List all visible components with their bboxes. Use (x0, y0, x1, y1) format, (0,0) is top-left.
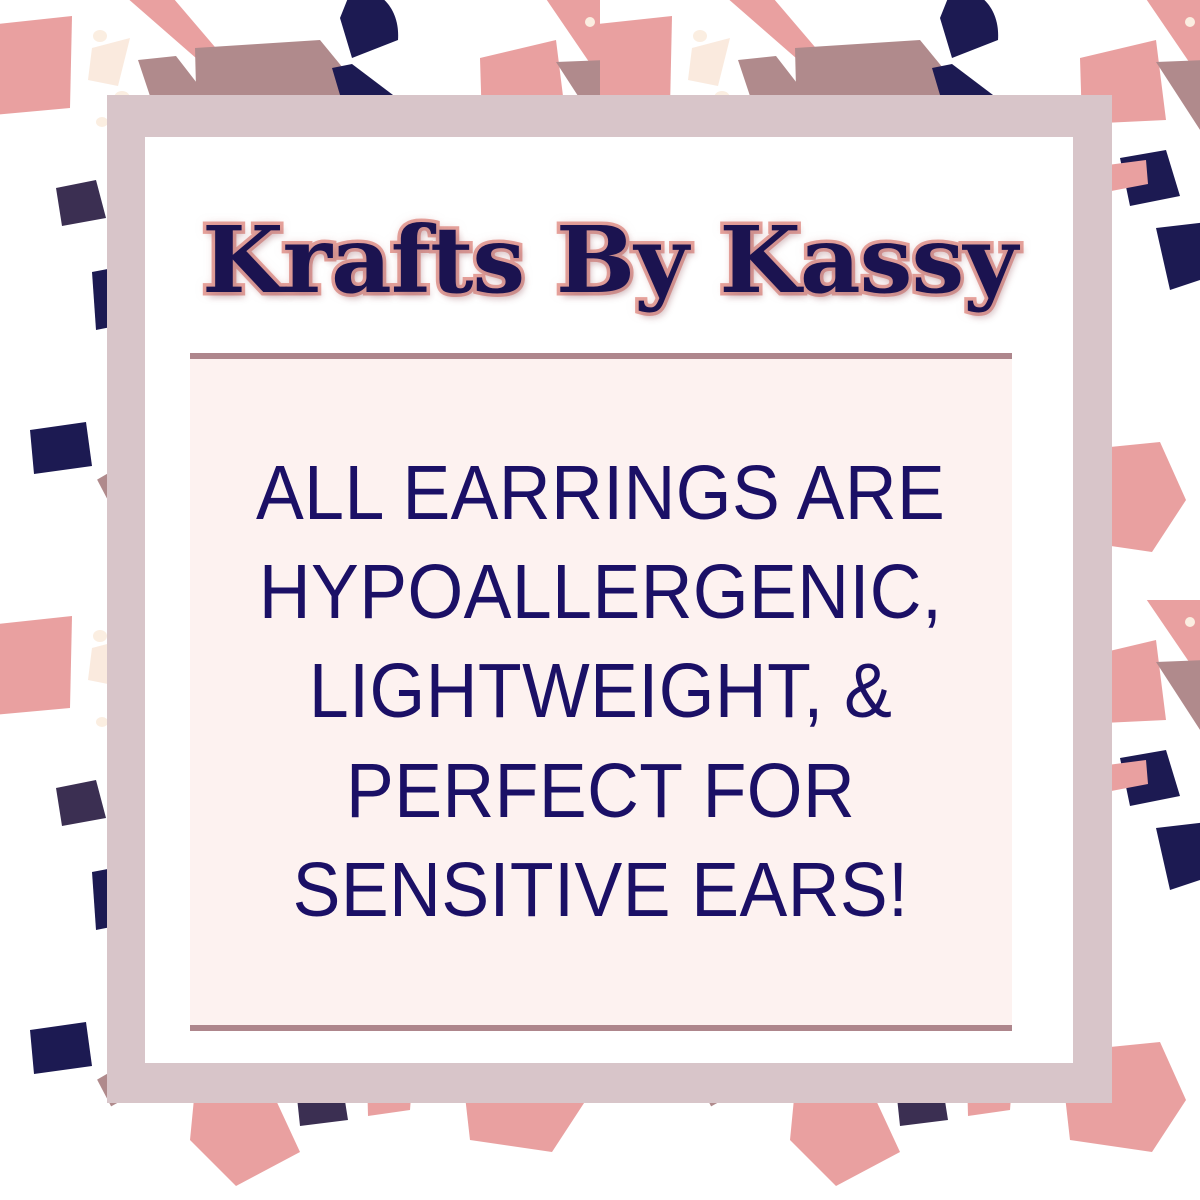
message-line-2: HYPOALLERGENIC, (256, 543, 945, 642)
poster-card: Krafts By Kassy ALL EARRINGS ARE HYPOALL… (145, 137, 1073, 1063)
poster-canvas: Krafts By Kassy ALL EARRINGS ARE HYPOALL… (0, 0, 1200, 1200)
divider-bottom (190, 1025, 1012, 1031)
brand-logo: Krafts By Kassy (145, 185, 1073, 335)
poster-frame-border: Krafts By Kassy ALL EARRINGS ARE HYPOALL… (107, 95, 1112, 1103)
message-panel: ALL EARRINGS ARE HYPOALLERGENIC, LIGHTWE… (190, 359, 1012, 1025)
brand-logo-text: Krafts By Kassy (202, 214, 1017, 306)
message-headline: ALL EARRINGS ARE HYPOALLERGENIC, LIGHTWE… (256, 444, 945, 941)
message-line-1: ALL EARRINGS ARE (256, 444, 945, 543)
message-line-3: LIGHTWEIGHT, & (256, 642, 945, 741)
message-line-4: PERFECT FOR (256, 742, 945, 841)
message-line-5: SENSITIVE EARS! (256, 841, 945, 940)
